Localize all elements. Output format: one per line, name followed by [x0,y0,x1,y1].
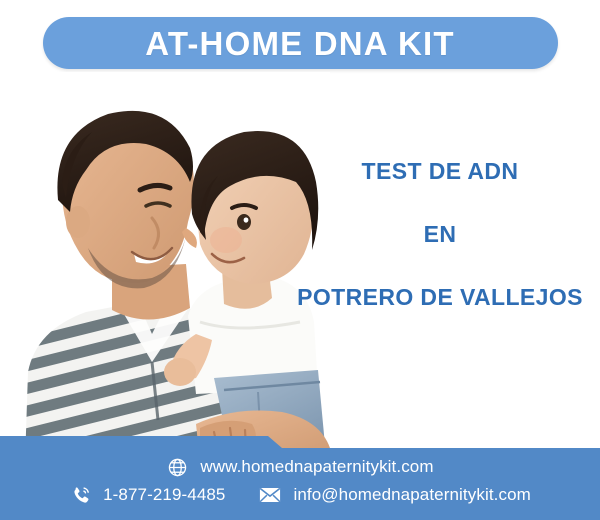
dna-kit-banner: AT-HOME DNA KIT [0,0,600,520]
headline-line-3: POTRERO DE VALLEJOS [290,286,590,309]
header-banner: AT-HOME DNA KIT [0,17,600,69]
header-pill: AT-HOME DNA KIT [43,17,558,69]
globe-icon [166,456,188,478]
envelope-icon [259,484,281,506]
headline-line-2: EN [290,223,590,246]
headline-line-1: TEST DE ADN [290,160,590,183]
headline-block: TEST DE ADN EN POTRERO DE VALLEJOS [290,160,590,309]
phone-icon [69,484,91,506]
email-contact-item[interactable]: info@homednapaternitykit.com [259,484,530,506]
photo-illustration [0,72,330,462]
footer-row-website: www.homednapaternitykit.com [0,456,600,478]
contact-footer-content: www.homednapaternitykit.com 1-877-219-44… [0,436,600,520]
father-and-child-photo [0,72,330,462]
phone-contact-item[interactable]: 1-877-219-4485 [69,484,225,506]
website-contact-item[interactable]: www.homednapaternitykit.com [166,456,433,478]
header-title: AT-HOME DNA KIT [145,27,454,60]
footer-row-phone-email: 1-877-219-4485 info@homednapaternitykit.… [0,484,600,506]
phone-label: 1-877-219-4485 [103,485,225,505]
email-label: info@homednapaternitykit.com [293,485,530,505]
website-label: www.homednapaternitykit.com [200,457,433,477]
